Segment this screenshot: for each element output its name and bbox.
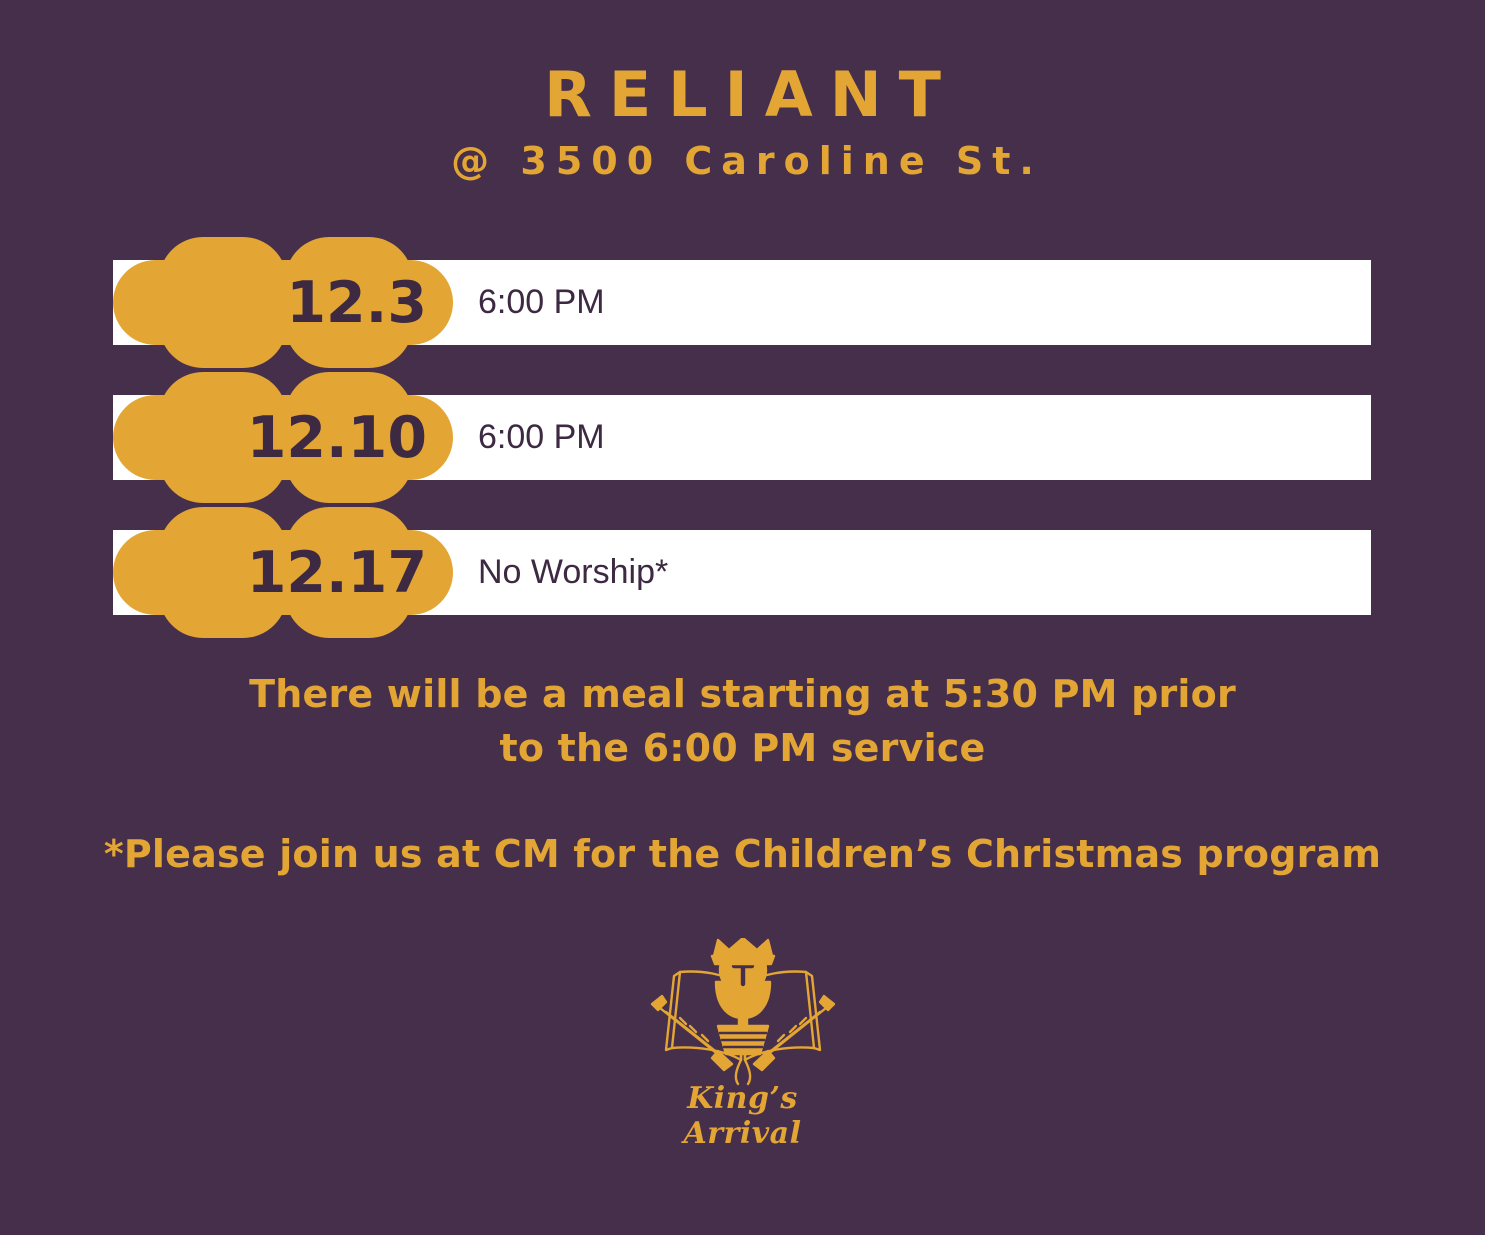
page-subtitle-address: @ 3500 Caroline St. [0, 141, 1485, 183]
schedule-row: 6:00 PM 12.10 [0, 395, 1485, 480]
date-badge: 12.10 [113, 372, 453, 503]
schedule-row-detail: 6:00 PM [478, 260, 605, 345]
date-badge: 12.17 [113, 507, 453, 638]
schedule-row-detail: 6:00 PM [478, 395, 605, 480]
schedule-row: 6:00 PM 12.3 [0, 260, 1485, 345]
page-title: RELIANT [0, 62, 1485, 127]
meal-note-line-1: There will be a meal starting at 5:30 PM… [0, 668, 1485, 722]
date-badge: 12.3 [113, 237, 453, 368]
notes-section: There will be a meal starting at 5:30 PM… [0, 668, 1485, 879]
schedule-list: 6:00 PM 12.3 6:00 PM 12.10 No Worshi [0, 260, 1485, 615]
schedule-row-detail: No Worship* [478, 530, 668, 615]
meal-note-line-2: to the 6:00 PM service [0, 722, 1485, 776]
church-logo: King’s Arrival [628, 938, 858, 1133]
date-badge-label: 12.17 [113, 507, 453, 638]
date-badge-label: 12.10 [113, 372, 453, 503]
asterisk-note: *Please join us at CM for the Children’s… [0, 830, 1485, 879]
logo-wordmark: King’s Arrival [628, 1081, 858, 1151]
poster-canvas: RELIANT @ 3500 Caroline St. 6:00 PM 12.3… [0, 0, 1485, 1235]
logo-artwork [628, 938, 858, 1088]
poster-header: RELIANT @ 3500 Caroline St. [0, 62, 1485, 183]
date-badge-label: 12.3 [113, 237, 453, 368]
meal-note: There will be a meal starting at 5:30 PM… [0, 668, 1485, 776]
schedule-row: No Worship* 12.17 [0, 530, 1485, 615]
crown-icon [712, 938, 774, 964]
